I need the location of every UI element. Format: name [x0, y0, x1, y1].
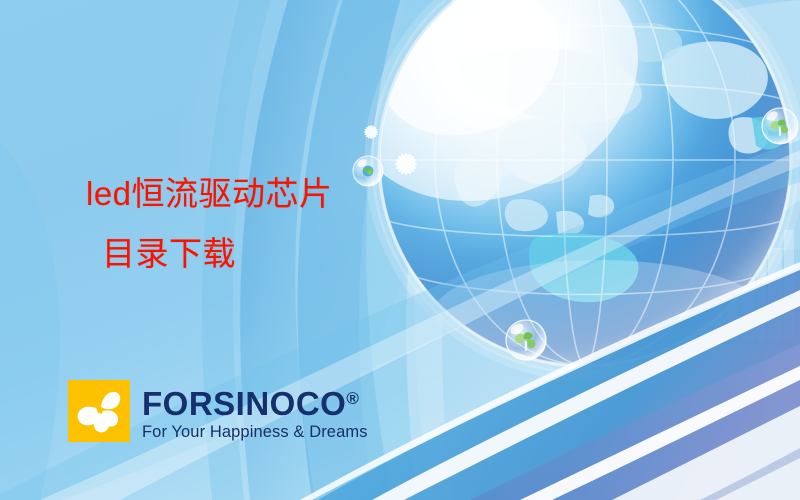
forsinoco-logo[interactable]: FORSINOCO® For Your Happiness & Dreams [68, 380, 368, 442]
logo-tagline: For Your Happiness & Dreams [142, 422, 368, 442]
headline-line-2: 目录下载 [86, 224, 426, 284]
registered-trademark-icon: ® [346, 389, 359, 408]
led-driver-catalog-banner: led恒流驱动芯片 目录下载 FORSINOCO® [0, 0, 800, 500]
logo-wordmark-text: FORSINOCO [142, 385, 346, 422]
headline-text-block: led恒流驱动芯片 目录下载 [86, 164, 426, 284]
headline-line-1: led恒流驱动芯片 [86, 164, 426, 224]
bubble-leaf-icon [502, 316, 550, 364]
bubble-leaf-right-icon [758, 104, 800, 148]
logo-wordmark: FORSINOCO® [142, 382, 368, 421]
logo-text-block: FORSINOCO® For Your Happiness & Dreams [142, 380, 368, 442]
sparkle-small-icon [360, 121, 382, 143]
forsinoco-pinwheel-mark-icon [68, 380, 130, 442]
